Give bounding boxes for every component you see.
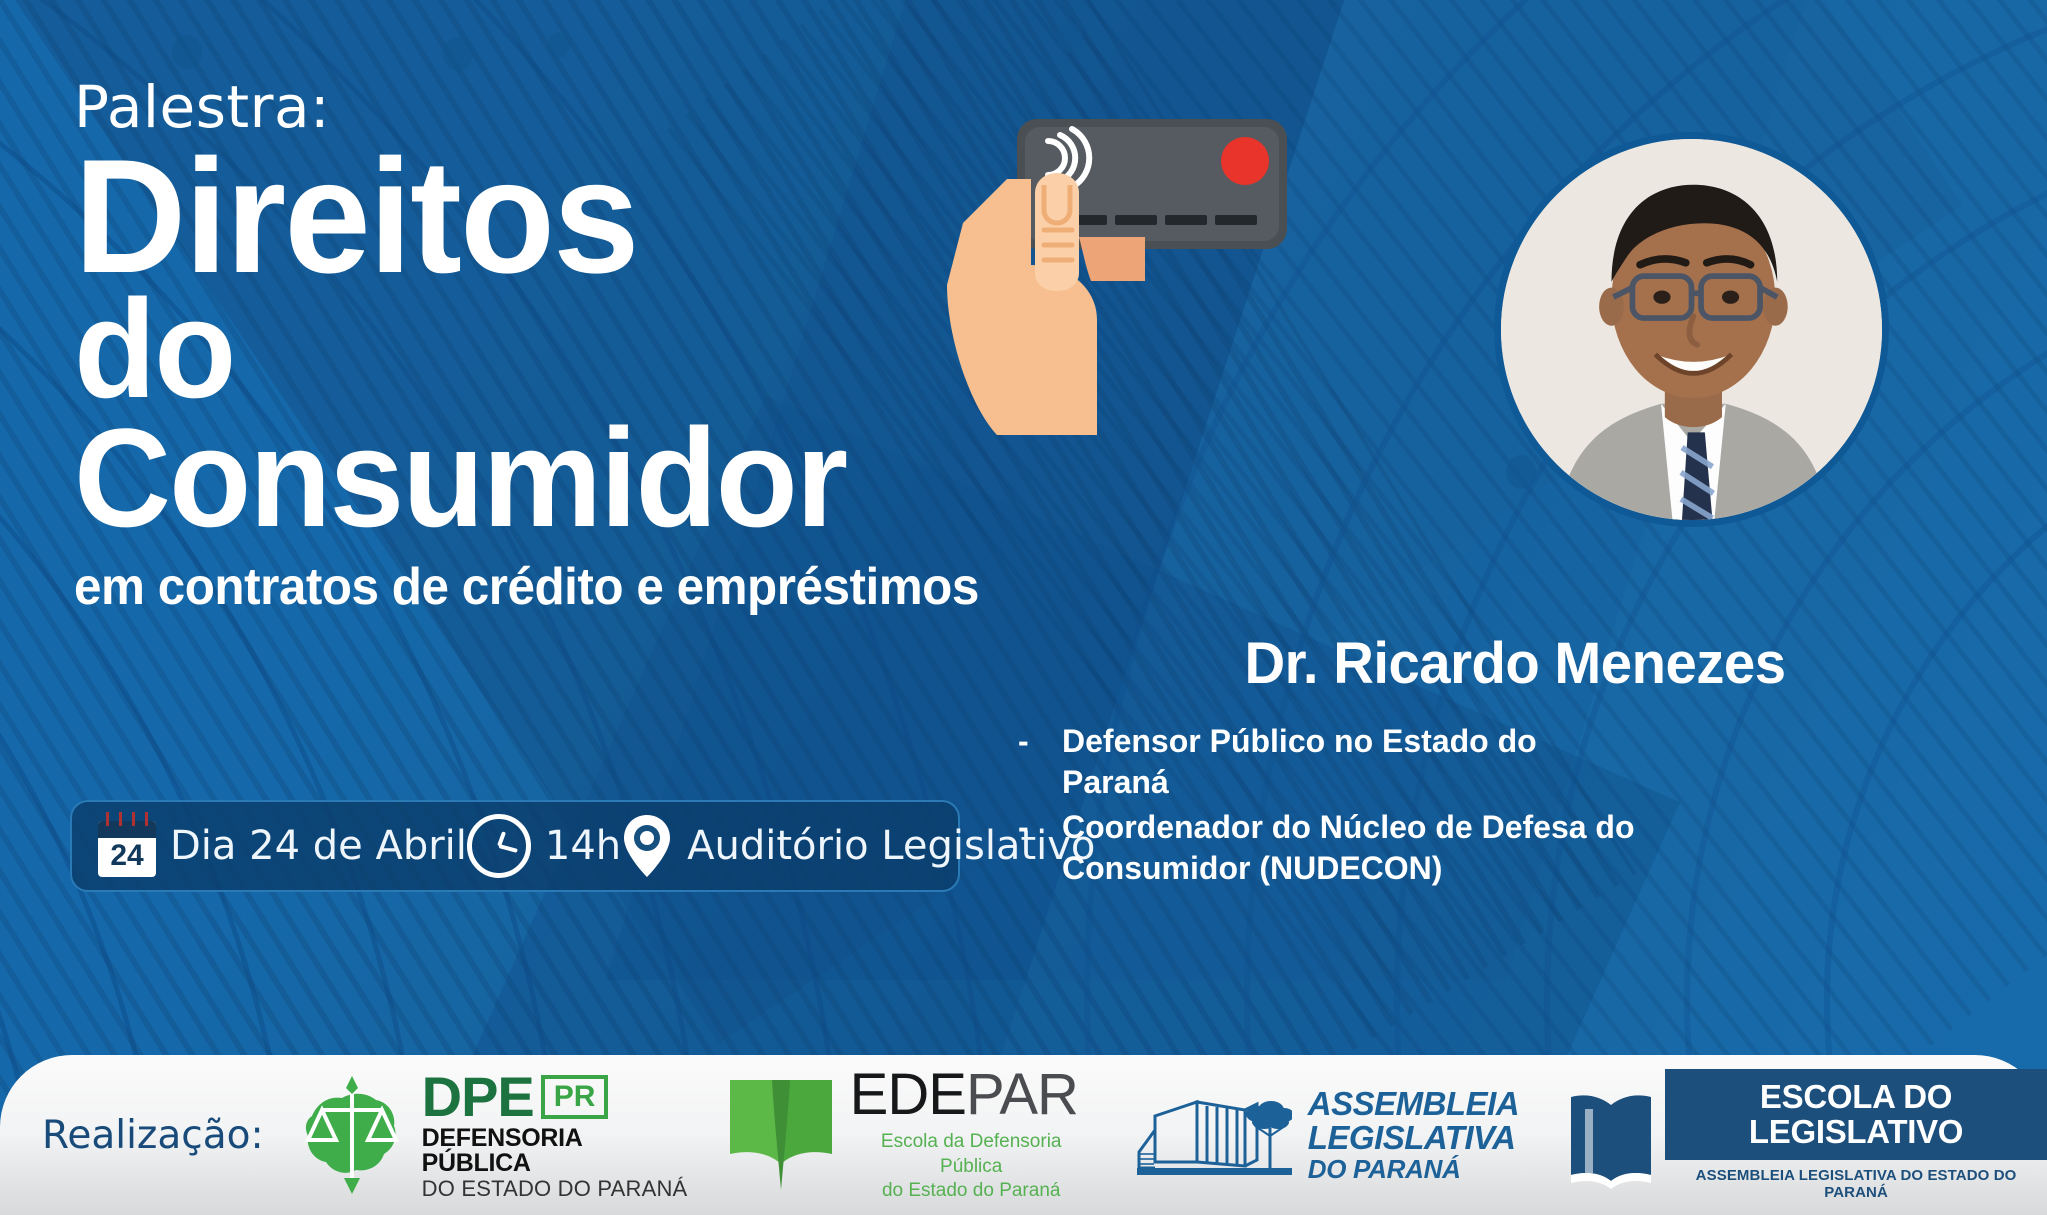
event-info-bar: 24 Dia 24 de Abril 14h Auditório Legisla… — [70, 800, 960, 892]
background-dot — [443, 37, 473, 71]
edepar-word-part2: PAR — [966, 1062, 1078, 1127]
escola-line1: ESCOLA DO — [1691, 1080, 2021, 1115]
event-date-text: Dia 24 de Abril — [170, 823, 467, 869]
dpe-scales-map-icon — [292, 1074, 412, 1196]
edepar-sub-line2: do Estado do Paraná — [850, 1179, 1093, 1204]
background-dot — [1506, 455, 1536, 489]
info-time: 14h — [467, 814, 621, 878]
escola-name-box: ESCOLA DO LEGISLATIVO — [1665, 1069, 2047, 1161]
speaker-portrait — [1494, 132, 1889, 527]
logo-assembleia-legislativa: ASSEMBLEIA LEGISLATIVA DO PARANÁ — [1137, 1080, 1519, 1190]
event-poster: Palestra: Direitos do Consumidor em cont… — [0, 0, 2047, 1215]
footer-logos-bar: Realização: DPE — [0, 1055, 2047, 1215]
background-dot — [172, 35, 202, 69]
bullet-dash: - — [1018, 721, 1036, 803]
speaker-credential: - Defensor Público no Estado do Paraná — [1010, 721, 2020, 803]
logo-edepar: EDEPAR Escola da Defensoria Pública do E… — [726, 1066, 1093, 1204]
edepar-sub-line1: Escola da Defensoria Pública — [850, 1130, 1093, 1179]
speaker-credential-text: Defensor Público no Estado do Paraná — [1062, 721, 1652, 803]
speaker-name: Dr. Ricardo Menezes — [1025, 630, 2005, 697]
speaker-credential: - Coordenador do Núcleo de Defesa do Con… — [1010, 807, 2020, 889]
poster-title-line2: do Consumidor — [74, 285, 1015, 543]
dpe-line2: DEFENSORIA PÚBLICA — [422, 1126, 692, 1176]
assembleia-line3: DO PARANÁ — [1308, 1156, 1519, 1183]
logo-escola-do-legislativo: ESCOLA DO LEGISLATIVO ASSEMBLEIA LEGISLA… — [1565, 1069, 2047, 1202]
dpe-pr-badge: PR — [541, 1075, 609, 1119]
speaker-block: Dr. Ricardo Menezes - Defensor Público n… — [1010, 630, 2020, 893]
dpe-acronym: DPE — [422, 1070, 534, 1123]
background-dot — [548, 32, 570, 57]
location-pin-icon — [621, 813, 673, 879]
realizacao-label: Realização: — [42, 1113, 264, 1158]
escola-open-book-icon — [1565, 1079, 1657, 1191]
assembleia-line1: ASSEMBLEIA — [1308, 1087, 1519, 1122]
headline-block: Palestra: Direitos do Consumidor em cont… — [74, 78, 1054, 617]
dpe-line3: DO ESTADO DO PARANÁ — [422, 1178, 692, 1200]
assembleia-building-icon — [1137, 1080, 1292, 1190]
credit-card-illustration — [945, 105, 1305, 435]
edepar-open-book-icon — [726, 1076, 836, 1194]
event-time-text: 14h — [545, 823, 621, 869]
poster-title-line1: Direitos — [74, 142, 1015, 291]
escola-line2: LEGISLATIVO — [1691, 1115, 2021, 1150]
background-dot — [1057, 22, 1083, 52]
clock-icon — [467, 814, 531, 878]
edepar-wordmark: EDEPAR — [850, 1066, 1093, 1124]
calendar-day-number: 24 — [98, 837, 156, 875]
logo-dpe: DPE PR DEFENSORIA PÚBLICA DO ESTADO DO P… — [292, 1070, 692, 1200]
calendar-icon: 24 — [98, 815, 156, 877]
speaker-credential-text: Coordenador do Núcleo de Defesa do Consu… — [1062, 807, 1652, 889]
escola-subtitle: ASSEMBLEIA LEGISLATIVA DO ESTADO DO PARA… — [1665, 1167, 2047, 1201]
edepar-word-part1: EDE — [850, 1062, 966, 1127]
bullet-dash: - — [1018, 807, 1036, 889]
info-date: 24 Dia 24 de Abril — [98, 815, 467, 877]
poster-subtitle: em contratos de crédito e empréstimos — [74, 557, 1005, 617]
assembleia-line2: LEGISLATIVA — [1308, 1121, 1519, 1156]
